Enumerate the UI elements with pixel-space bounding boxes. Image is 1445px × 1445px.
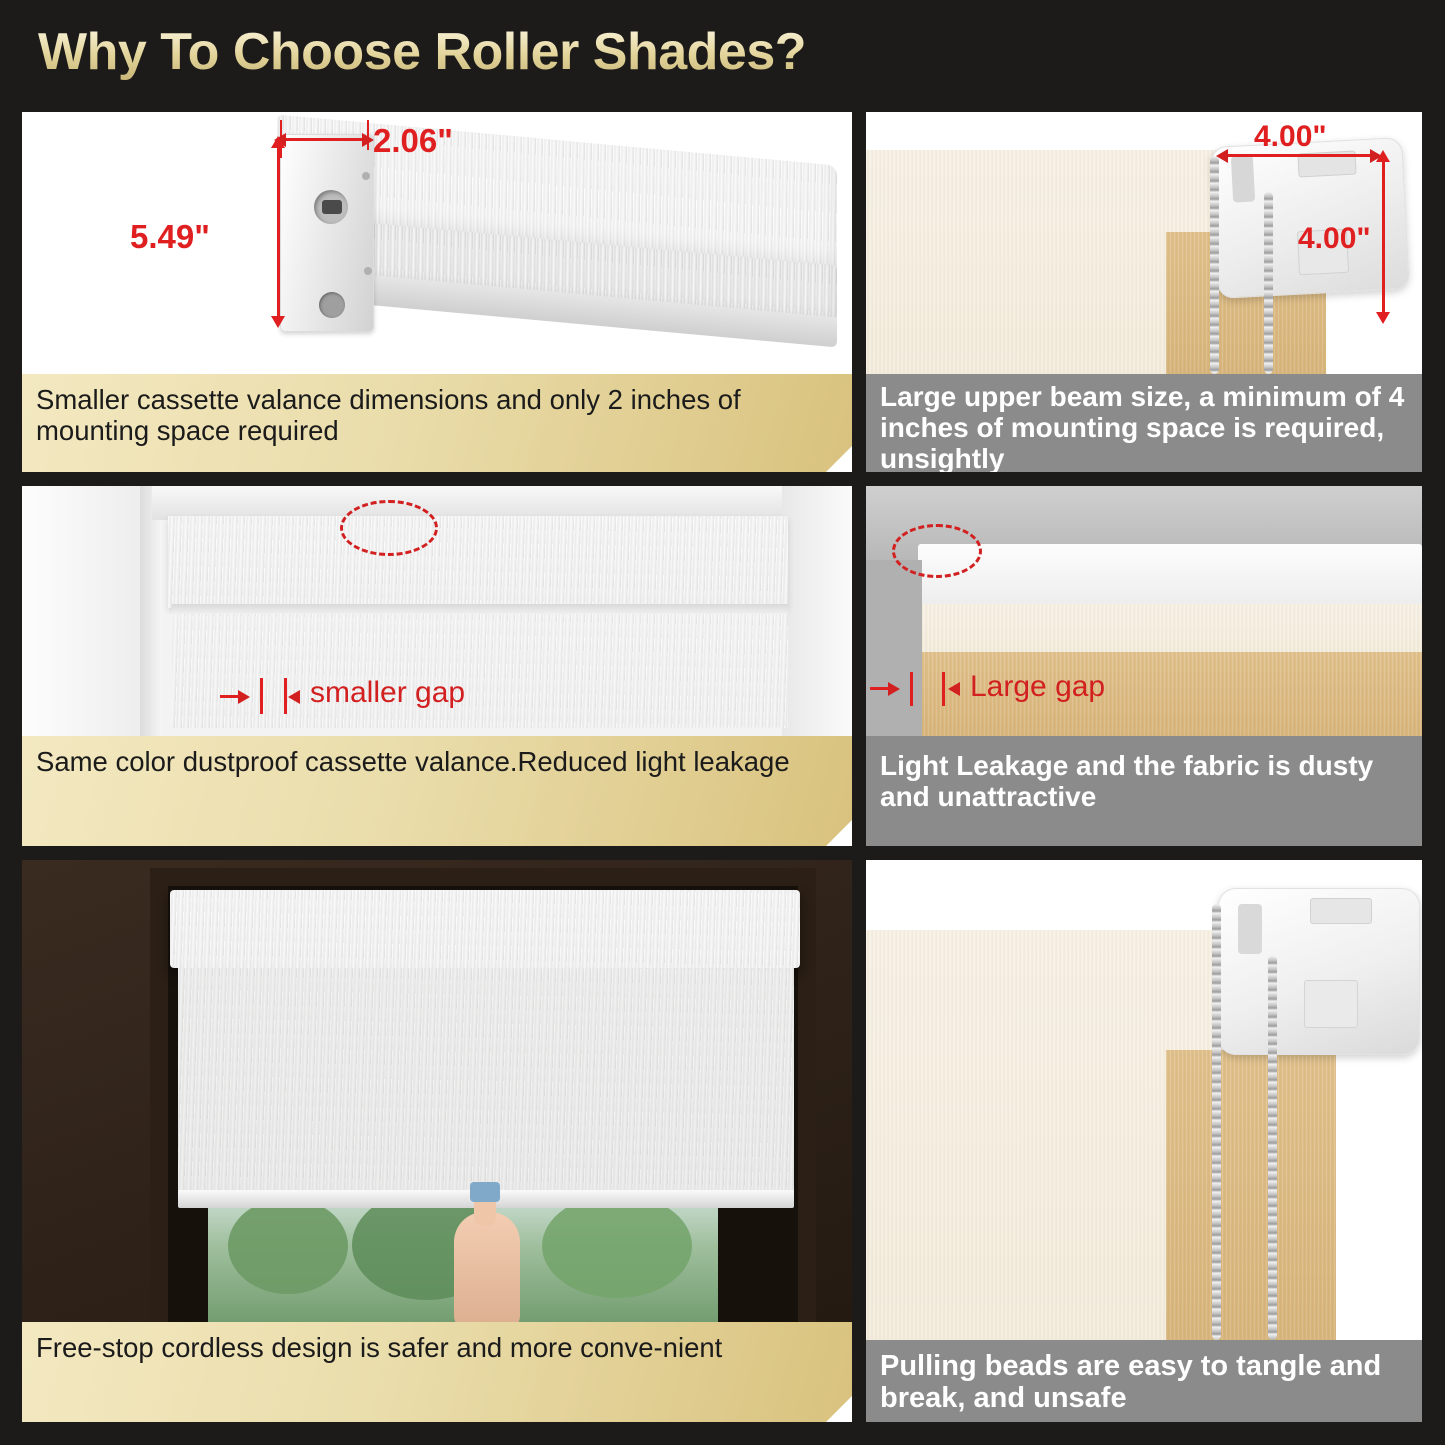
card-5-hand <box>454 1212 520 1330</box>
card-3-shade <box>172 608 788 728</box>
card-cassette-valance-dimensions: 2.06" 5.49" Smaller cassette valance dim… <box>22 112 852 472</box>
card-4-photo: Large gap <box>866 486 1422 736</box>
card-pulling-beads: Pulling beads are easy to tangle and bre… <box>866 860 1422 1422</box>
card-3-gap-tail-left <box>220 695 240 698</box>
card-3-highlight-ellipse <box>340 500 438 556</box>
card-6-photo <box>866 860 1422 1340</box>
card-2-dim-width-arrow-left <box>1216 149 1228 163</box>
card-3-valance <box>168 516 788 608</box>
card-2-photo: 4.00" 4.00" <box>866 112 1422 374</box>
card-4-gap-line-left <box>910 672 913 706</box>
infographic-page: Why To Choose Roller Shades? 2.06" <box>0 0 1445 1445</box>
card-large-upper-beam: 4.00" 4.00" Large upper beam size, a min… <box>866 112 1422 472</box>
card-2-bead-chain-right <box>1264 192 1273 374</box>
dim-height-label: 5.49" <box>130 218 210 256</box>
card-6-bead-chain-right <box>1268 956 1277 1340</box>
card-5-shade <box>178 968 794 1198</box>
card-4-highlight-ellipse <box>892 524 982 578</box>
card-3-photo: smaller gap <box>22 486 852 736</box>
card-6-caption: Pulling beads are easy to tangle and bre… <box>866 1340 1422 1422</box>
card-2-bead-chain-left <box>1210 156 1219 374</box>
card-3-gap-arrow-right <box>288 690 300 704</box>
card-light-leakage: Large gap Light Leakage and the fabric i… <box>866 486 1422 846</box>
card-cordless-design: Free-stop cordless design is safer and m… <box>22 860 852 1422</box>
card-4-caption: Light Leakage and the fabric is dusty an… <box>866 736 1422 846</box>
dim-width-line <box>284 138 366 141</box>
page-title: Why To Choose Roller Shades? <box>38 22 806 82</box>
card-5-valance <box>170 890 800 968</box>
dim-height-arrow-up <box>271 136 285 148</box>
card-3-caption: Same color dustproof cassette valance.Re… <box>22 736 852 846</box>
card-2-caption: Large upper beam size, a minimum of 4 in… <box>866 374 1422 472</box>
card-5-photo <box>22 860 852 1330</box>
dim-width-label: 2.06" <box>373 122 453 160</box>
card-1-caption: Smaller cassette valance dimensions and … <box>22 374 852 472</box>
card-2-dim-height-arrow-down <box>1376 312 1390 324</box>
card-2-dim-height-label: 4.00" <box>1298 222 1371 256</box>
card-1-photo: 2.06" 5.49" <box>22 112 852 374</box>
card-2-dim-height-line <box>1382 160 1385 320</box>
card-4-gap-arrow-right <box>948 682 960 696</box>
card-5-caption: Free-stop cordless design is safer and m… <box>22 1322 852 1422</box>
card-2-dim-width-line <box>1226 154 1376 157</box>
dim-height-line <box>277 146 280 324</box>
card-4-gap-line-right <box>942 672 945 706</box>
card-6-bead-chain-left <box>1212 904 1221 1340</box>
card-4-fabric-beige <box>920 604 1422 654</box>
card-2-dim-width-label: 4.00" <box>1254 120 1327 154</box>
card-3-gap-line-right <box>284 678 287 714</box>
dim-height-arrow-down <box>271 316 285 328</box>
card-dustproof-cassette-valance: smaller gap Same color dustproof cassett… <box>22 486 852 846</box>
card-3-gap-label: smaller gap <box>310 676 465 710</box>
card-3-gap-line-left <box>260 678 263 714</box>
card-4-gap-label: Large gap <box>970 670 1105 704</box>
card-6-fabric-tan <box>1166 1050 1336 1340</box>
card-4-gap-tail-left <box>870 687 890 690</box>
card-2-dim-height-arrow-up <box>1376 150 1390 162</box>
